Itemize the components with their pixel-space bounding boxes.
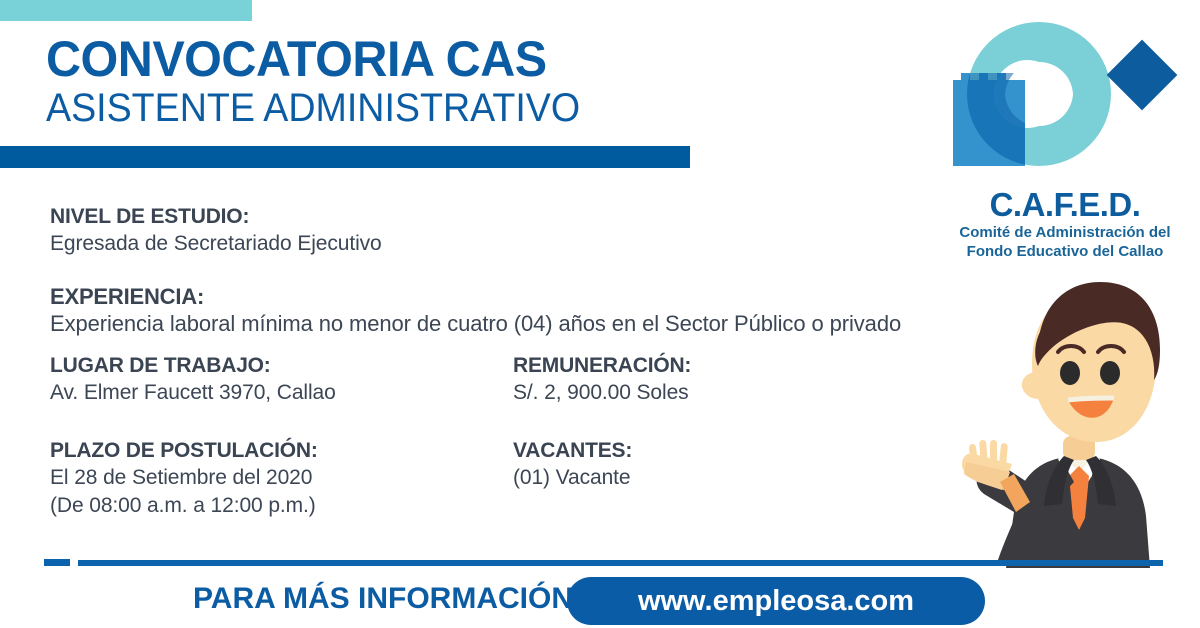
job-posting-banner: CONVOCATORIA CAS ASISTENTE ADMINISTRATIV… (0, 0, 1200, 628)
detail-label: LUGAR DE TRABAJO: (50, 352, 336, 379)
footer-divider-dash (44, 559, 70, 566)
detail-lugar-de-trabajo: LUGAR DE TRABAJO: Av. Elmer Faucett 3970… (50, 352, 336, 407)
detail-remuneracion: REMUNERACIÓN: S/. 2, 900.00 Soles (513, 352, 691, 407)
businessman-waving-illustration (940, 268, 1200, 568)
detail-value: El 28 de Setiembre del 2020 (50, 464, 318, 492)
header-teal-accent-bar (0, 0, 252, 21)
detail-value-secondary: (De 08:00 a.m. a 12:00 p.m.) (50, 492, 318, 520)
page-title: CONVOCATORIA CAS (46, 33, 547, 85)
detail-label: VACANTES: (513, 437, 632, 464)
detail-label: EXPERIENCIA: (50, 283, 901, 310)
detail-label: NIVEL DE ESTUDIO: (50, 203, 382, 230)
detail-value: Egresada de Secretariado Ejecutivo (50, 230, 382, 258)
footer-divider-line (78, 560, 1163, 566)
logo-tagline-line-1: Comité de Administración del (935, 223, 1195, 242)
detail-experiencia: EXPERIENCIA: Experiencia laboral mínima … (50, 283, 901, 338)
detail-value: S/. 2, 900.00 Soles (513, 379, 691, 407)
logo-tagline-line-2: Fondo Educativo del Callao (935, 242, 1195, 261)
detail-nivel-de-estudio: NIVEL DE ESTUDIO: Egresada de Secretaria… (50, 203, 382, 258)
cafed-c-mark-icon (935, 14, 1195, 189)
cafed-logo: C.A.F.E.D. Comité de Administración del … (935, 14, 1195, 264)
detail-value: (01) Vacante (513, 464, 632, 492)
detail-value: Av. Elmer Faucett 3970, Callao (50, 379, 336, 407)
footer-more-info-label: PARA MÁS INFORMACIÓN (193, 582, 573, 616)
detail-plazo-de-postulacion: PLAZO DE POSTULACIÓN: El 28 de Setiembre… (50, 437, 318, 520)
detail-label: REMUNERACIÓN: (513, 352, 691, 379)
page-subtitle: ASISTENTE ADMINISTRATIVO (46, 86, 580, 130)
logo-tagline: Comité de Administración del Fondo Educa… (935, 223, 1195, 261)
website-button[interactable]: www.empleosa.com (567, 577, 985, 625)
detail-value: Experiencia laboral mínima no menor de c… (50, 310, 901, 338)
website-button-label: www.empleosa.com (638, 585, 914, 618)
detail-label: PLAZO DE POSTULACIÓN: (50, 437, 318, 464)
header-blue-rule-bar (0, 146, 690, 168)
logo-acronym: C.A.F.E.D. (935, 188, 1195, 222)
detail-vacantes: VACANTES: (01) Vacante (513, 437, 632, 492)
